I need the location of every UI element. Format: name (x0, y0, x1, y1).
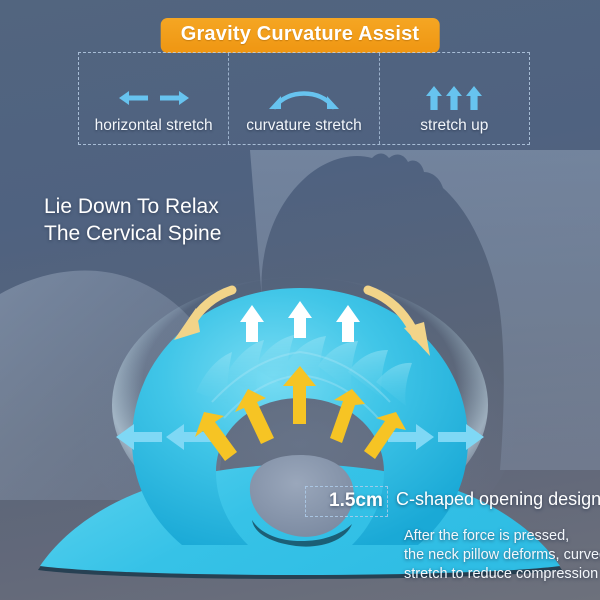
gravity-curve-arrows (174, 290, 430, 356)
feature-label: curvature stretch (246, 117, 361, 135)
force-arrows (195, 366, 406, 461)
measurement-label: 1.5cm (329, 490, 383, 512)
page-title: Gravity Curvature Assist (161, 18, 440, 53)
lift-arrows (240, 301, 360, 342)
horizontal-stretch-arrows (116, 424, 484, 450)
footnote: After the force is pressed, the neck pil… (404, 527, 600, 584)
footnote-line-1: After the force is pressed, (404, 527, 600, 546)
curved-double-arrow-icon (261, 81, 347, 115)
opening-design-label: C-shaped opening design (396, 489, 600, 510)
spine-ridge-texture (196, 335, 412, 406)
feature-label: horizontal stretch (95, 117, 213, 135)
triple-up-arrow-icon (422, 81, 486, 115)
feature-curvature-stretch: curvature stretch (228, 53, 378, 144)
footnote-line-2: the neck pillow deforms, curved (404, 546, 600, 565)
headline: Lie Down To Relax The Cervical Spine (44, 193, 221, 247)
feature-label: stretch up (420, 117, 488, 135)
headline-line-2: The Cervical Spine (44, 220, 221, 247)
feature-horizontal-stretch: horizontal stretch (79, 53, 228, 144)
headline-line-1: Lie Down To Relax (44, 193, 221, 220)
footnote-line-3: stretch to reduce compression (404, 565, 600, 584)
feature-strip: horizontal stretch curvature stretch (78, 52, 530, 145)
product-infographic: Gravity Curvature Assist horizontal stre… (0, 0, 600, 600)
feature-stretch-up: stretch up (379, 53, 529, 144)
horizontal-double-arrow-icon (115, 81, 193, 115)
